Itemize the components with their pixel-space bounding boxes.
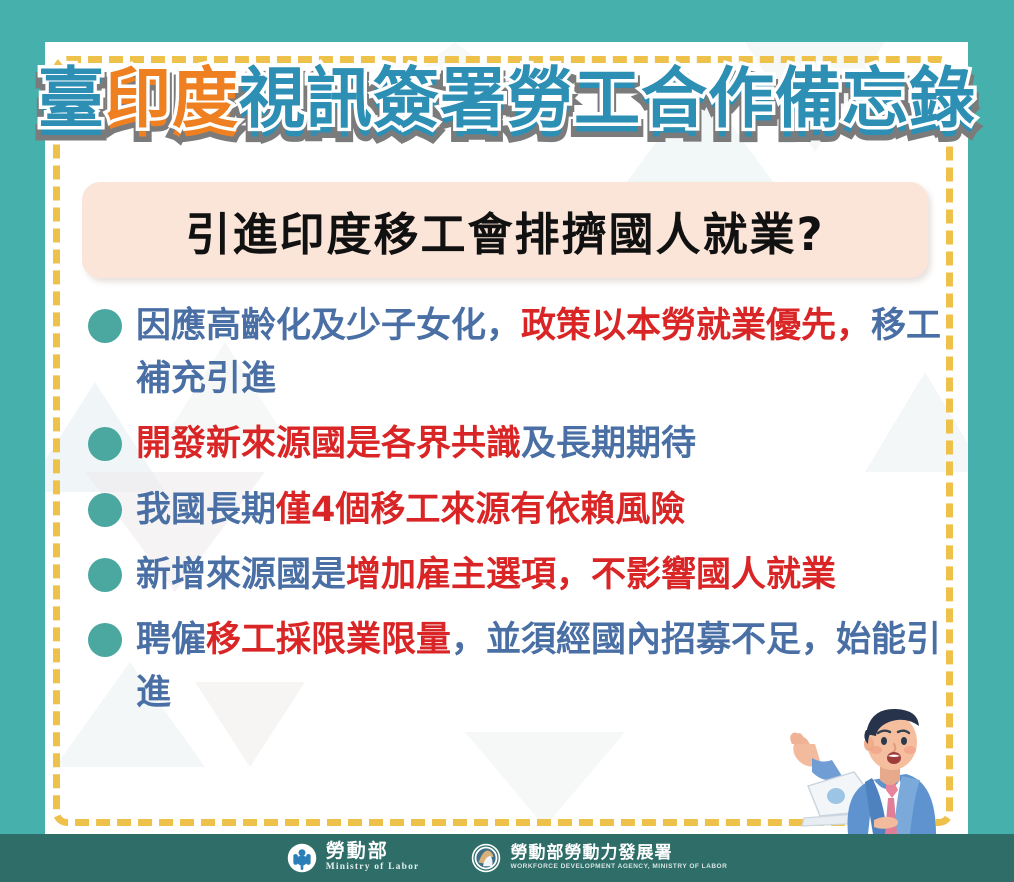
bullet-dot-icon (88, 427, 122, 461)
bullet-dot-icon (88, 309, 122, 343)
footer-logos: 勞動部 Ministry of Labor 勞動部勞動力發展署 WORKFORC… (0, 834, 1014, 882)
decorative-triangle (465, 732, 625, 827)
logo-workforce-development-agency: 勞動部勞動力發展署 WORKFORCE DEVELOPMENT AGENCY, … (471, 843, 727, 873)
infographic-poster: 臺印度視訊簽署勞工合作備忘錄 臺印度視訊簽署勞工合作備忘錄 臺印度視訊簽署勞工合… (0, 0, 1014, 882)
bullet-1-text: 因應高齡化及少子女化，政策以本勞就業優先，移工補充引進 (136, 300, 948, 406)
ministry-of-labor-emblem-icon (287, 843, 317, 873)
bullet-4-seg-1: 新增來源國是 (136, 555, 346, 595)
question-text: 引進印度移工會排擠國人就業? (185, 198, 824, 263)
list-item: 因應高齡化及少子女化，政策以本勞就業優先，移工補充引進 (88, 300, 948, 406)
workforce-development-agency-emblem-icon (471, 843, 501, 873)
ministry-of-labor-text: 勞動部 Ministry of Labor (326, 842, 420, 873)
bullet-list: 因應高齡化及少子女化，政策以本勞就業優先，移工補充引進 開發新來源國是各界共識及… (88, 300, 948, 732)
bullet-dot-icon (88, 623, 122, 657)
title-seg-2-fill: 印度 (105, 60, 239, 137)
title-seg-1-fill: 臺 (38, 60, 105, 137)
bullet-5-seg-1: 聘僱 (136, 620, 206, 660)
title-seg-3-fill: 視訊簽署勞工合作備忘錄 (239, 60, 976, 137)
bullet-4-text: 新增來源國是增加雇主選項，不影響國人就業 (136, 549, 836, 602)
bullet-2-seg-2: 及長期期待 (521, 424, 696, 464)
bullet-1-seg-1: 因應高齡化及少子女化， (136, 306, 521, 346)
list-item: 新增來源國是增加雇主選項，不影響國人就業 (88, 549, 948, 602)
bullet-5-seg-2: 移工採限業限量 (206, 620, 451, 660)
bullet-1-seg-2: 政策以本勞就業優先， (521, 306, 871, 346)
bullet-4-seg-2: 增加雇主選項，不影響國人就業 (346, 555, 836, 595)
bullet-3-text: 我國長期僅4個移工來源有依賴風險 (136, 484, 685, 537)
bullet-3-seg-1: 我國長期 (136, 490, 276, 530)
workforce-development-agency-text: 勞動部勞動力發展署 WORKFORCE DEVELOPMENT AGENCY, … (510, 845, 727, 871)
title-fill: 臺印度視訊簽署勞工合作備忘錄 (38, 66, 976, 132)
businessman-illustration (790, 700, 970, 834)
bullet-2-text: 開發新來源國是各界共識及長期期待 (136, 418, 696, 471)
workforce-development-agency-cn: 勞動部勞動力發展署 (510, 845, 727, 863)
bullet-2-seg-1: 開發新來源國是各界共識 (136, 424, 521, 464)
bullet-dot-icon (88, 558, 122, 592)
list-item: 開發新來源國是各界共識及長期期待 (88, 418, 948, 471)
question-banner: 引進印度移工會排擠國人就業? (82, 182, 928, 278)
list-item: 我國長期僅4個移工來源有依賴風險 (88, 484, 948, 537)
ministry-of-labor-en: Ministry of Labor (326, 862, 420, 873)
bullet-dot-icon (88, 493, 122, 527)
logo-ministry-of-labor: 勞動部 Ministry of Labor (287, 842, 420, 873)
bullet-3-seg-2: 僅4個移工來源有依賴風險 (276, 490, 685, 530)
workforce-development-agency-en: WORKFORCE DEVELOPMENT AGENCY, MINISTRY O… (510, 863, 727, 871)
poster-title: 臺印度視訊簽署勞工合作備忘錄 臺印度視訊簽署勞工合作備忘錄 臺印度視訊簽署勞工合… (0, 66, 1014, 150)
ministry-of-labor-cn: 勞動部 (326, 842, 420, 862)
